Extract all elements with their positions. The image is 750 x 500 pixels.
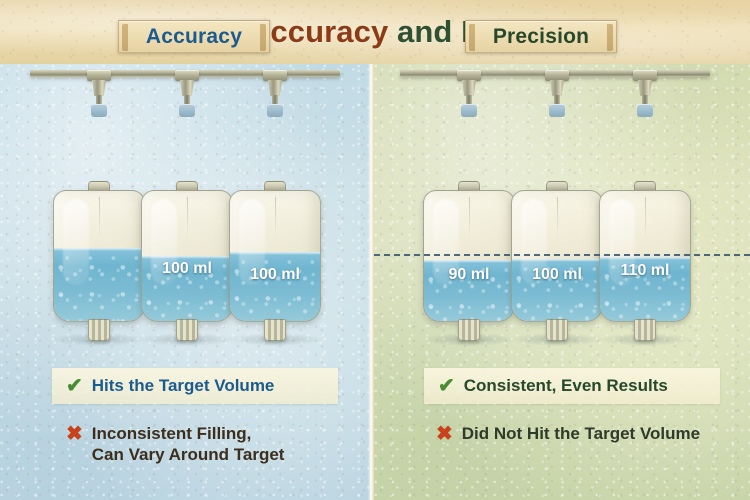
bullet-precision-negative: ✖ Did Not Hit the Target Volume bbox=[436, 424, 700, 445]
bag-shell bbox=[511, 190, 603, 322]
bullet-accuracy-positive: ✔ Hits the Target Volume bbox=[52, 368, 338, 404]
iv-bag bbox=[53, 190, 145, 322]
bag-crease bbox=[275, 197, 276, 239]
bag-shell bbox=[53, 190, 145, 322]
bullet-accuracy-positive-text: Hits the Target Volume bbox=[92, 376, 275, 397]
bag-volume-label: 100 ml bbox=[141, 260, 233, 278]
infographic-canvas: Filling Accuracy and Precision Accuracy … bbox=[0, 0, 750, 500]
bullet-precision-positive-text: Consistent, Even Results bbox=[464, 376, 668, 397]
bullet-precision-positive: ✔ Consistent, Even Results bbox=[424, 368, 720, 404]
panel-divider bbox=[368, 64, 374, 500]
bag-shell bbox=[229, 190, 321, 322]
banner-precision: Precision bbox=[465, 20, 617, 53]
cross-icon: ✖ bbox=[436, 424, 453, 445]
bag-shell bbox=[141, 190, 233, 322]
bag-port bbox=[264, 319, 286, 341]
bag-crease bbox=[645, 197, 646, 239]
bag-port bbox=[634, 319, 656, 341]
bag-volume-label: 100 ml bbox=[511, 266, 603, 284]
bag-port bbox=[176, 319, 198, 341]
target-volume-line bbox=[374, 254, 750, 256]
banner-accuracy: Accuracy bbox=[118, 20, 270, 53]
bag-crease bbox=[557, 197, 558, 239]
bullet-accuracy-negative-line1: Inconsistent Filling, bbox=[92, 424, 252, 443]
page-title: Filling Accuracy and Precision bbox=[0, 14, 750, 50]
bullet-accuracy-negative-line2: Can Vary Around Target bbox=[92, 445, 285, 464]
bag-crease bbox=[187, 197, 188, 239]
bag-port bbox=[458, 319, 480, 341]
iv-bag: 100 ml bbox=[141, 190, 233, 322]
check-icon: ✔ bbox=[438, 376, 455, 397]
bag-highlight bbox=[63, 199, 89, 285]
bullet-accuracy-negative: ✖ Inconsistent Filling, Can Vary Around … bbox=[66, 424, 284, 465]
bag-shell bbox=[599, 190, 691, 322]
bag-volume-label: 110 ml bbox=[599, 262, 691, 280]
banner-precision-label: Precision bbox=[493, 25, 589, 49]
bag-port bbox=[546, 319, 568, 341]
bullet-precision-negative-text: Did Not Hit the Target Volume bbox=[462, 424, 700, 445]
bag-shell bbox=[423, 190, 515, 322]
iv-bag: 110 ml bbox=[599, 190, 691, 322]
bag-crease bbox=[99, 197, 100, 239]
check-icon: ✔ bbox=[66, 376, 83, 397]
bag-port bbox=[88, 319, 110, 341]
bullet-accuracy-negative-text: Inconsistent Filling, Can Vary Around Ta… bbox=[92, 424, 285, 465]
iv-bag: 100 ml bbox=[229, 190, 321, 322]
iv-bag: 90 ml bbox=[423, 190, 515, 322]
bag-volume-label: 100 ml bbox=[229, 266, 321, 284]
iv-bag: 100 ml bbox=[511, 190, 603, 322]
bag-crease bbox=[469, 197, 470, 239]
bag-volume-label: 90 ml bbox=[423, 266, 515, 284]
cross-icon: ✖ bbox=[66, 424, 83, 445]
banner-accuracy-label: Accuracy bbox=[146, 25, 242, 49]
